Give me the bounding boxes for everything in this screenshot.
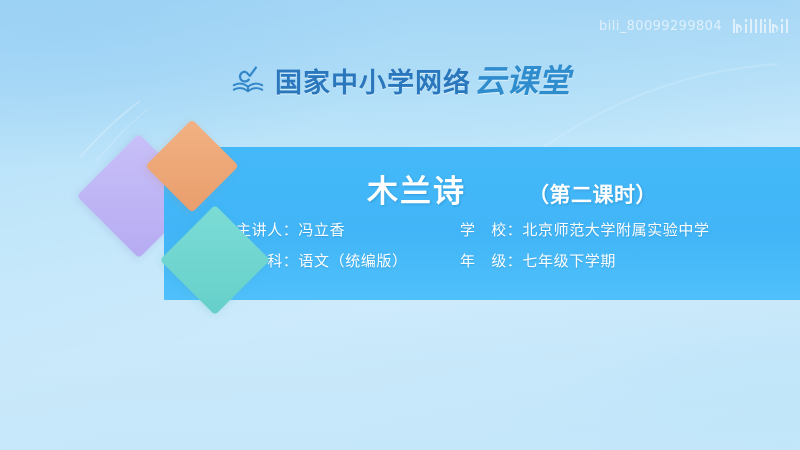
lesson-title-row: 木兰诗 （第二课时）: [164, 166, 800, 211]
lesson-presenter: 主讲人：冯立香: [236, 219, 460, 240]
bilibili-logo-icon: [730, 16, 792, 36]
lesson-school: 学 校：北京师范大学附属实验中学: [460, 219, 710, 240]
video-title-slide: bili_80099299804: [0, 0, 800, 450]
lesson-meta-row: 主讲人：冯立香 学 校：北京师范大学附属实验中学: [236, 219, 792, 240]
lesson-title: 木兰诗: [367, 166, 466, 211]
platform-logo: 国家中小学网络 云课堂: [0, 56, 800, 102]
lesson-info-banner: 木兰诗 （第二课时） 主讲人：冯立香 学 校：北京师范大学附属实验中学 学 科：…: [164, 147, 800, 300]
platform-logo-accent: 云课堂: [474, 56, 570, 102]
lesson-subject: 学 科：语文（统编版）: [236, 250, 460, 271]
platform-logo-main: 国家中小学网络: [275, 61, 471, 100]
lesson-meta-row: 学 科：语文（统编版） 年 级：七年级下学期: [236, 250, 792, 271]
background-bottom-glow: [0, 290, 800, 450]
lesson-session: （第二课时）: [528, 179, 657, 209]
lesson-grade: 年 级：七年级下学期: [460, 250, 616, 271]
open-book-with-check-icon: [230, 62, 266, 98]
lesson-meta: 主讲人：冯立香 学 校：北京师范大学附属实验中学 学 科：语文（统编版） 年 级…: [236, 219, 792, 281]
platform-logo-text: 国家中小学网络 云课堂: [275, 56, 570, 102]
bilibili-watermark: bili_80099299804: [599, 16, 792, 36]
watermark-user-id: bili_80099299804: [599, 19, 722, 34]
